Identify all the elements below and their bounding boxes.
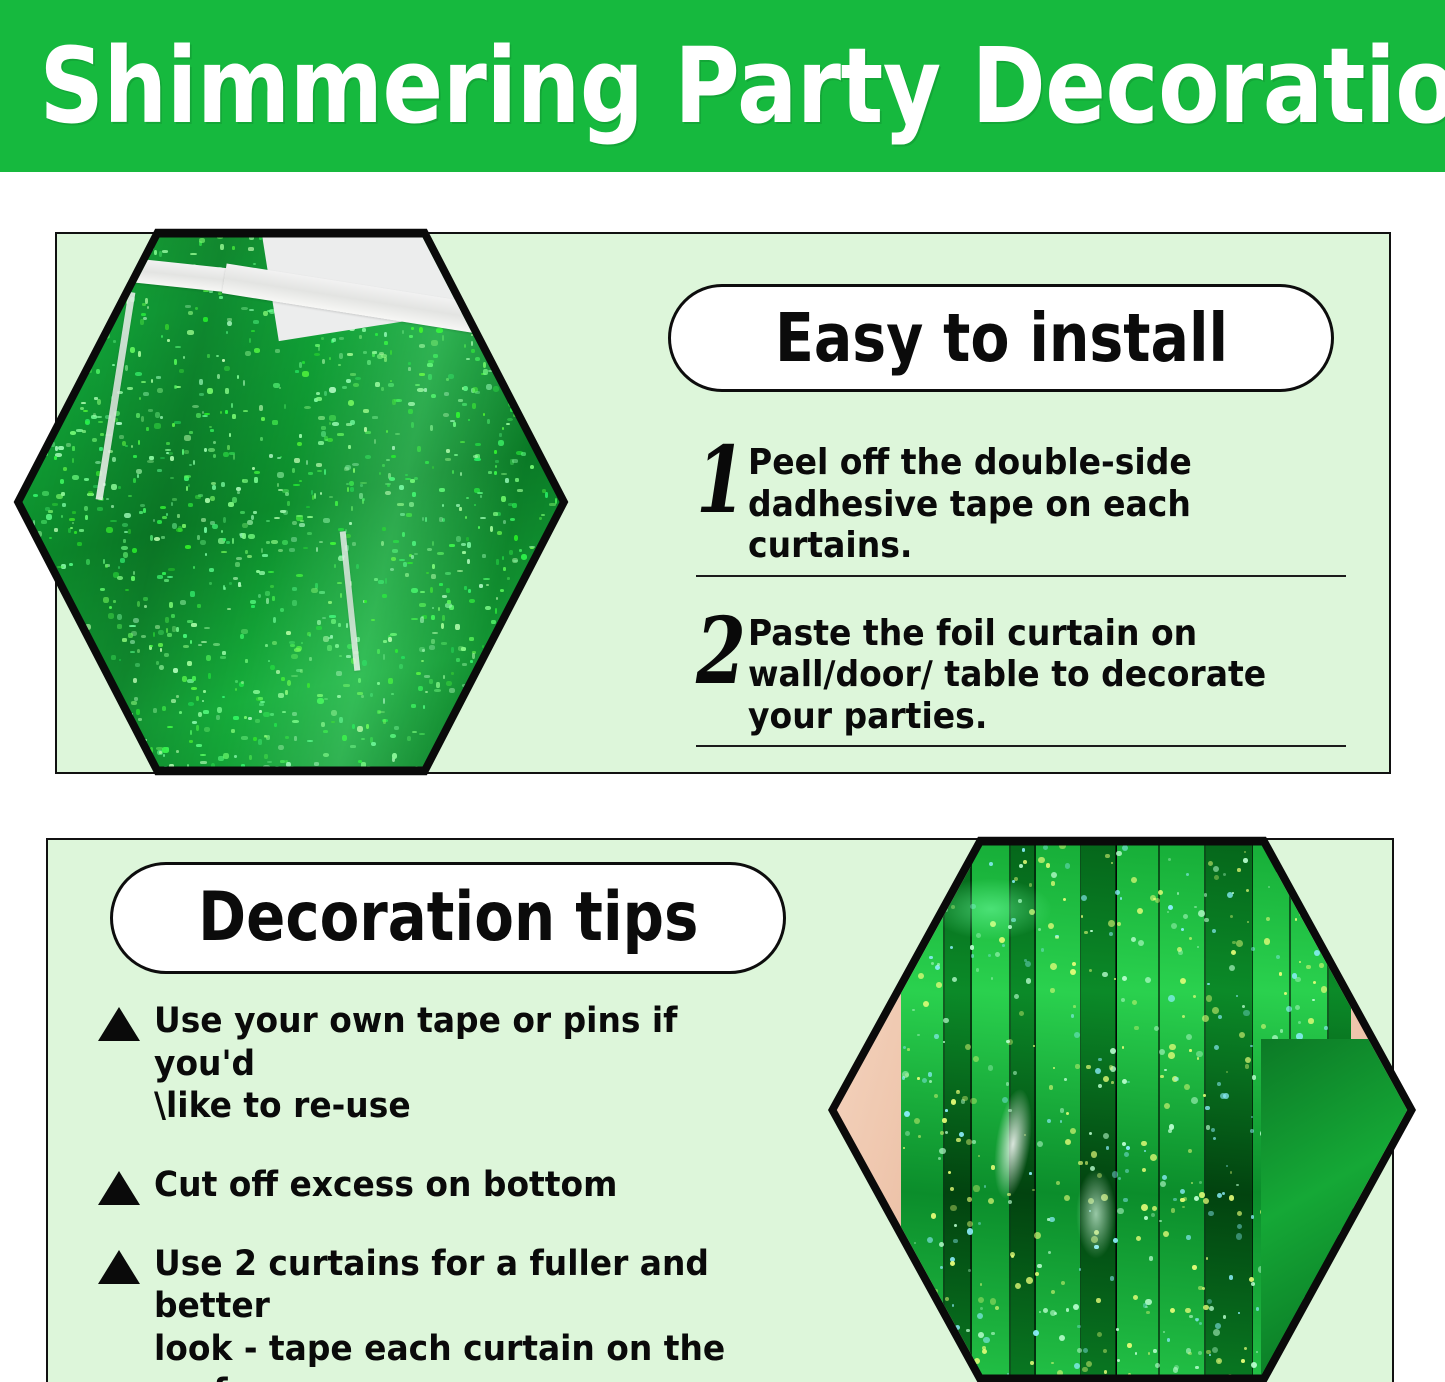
decoration-tips-label: Decoration tips xyxy=(198,884,698,952)
install-steps-list: 1 Peel off the double-side dadhesive tap… xyxy=(696,438,1346,747)
decoration-tip-2: Cut off excess on bottom xyxy=(98,1164,818,1207)
tips-image-hexagon xyxy=(822,830,1422,1382)
fringe-curtain-photo xyxy=(831,839,1413,1381)
triangle-icon xyxy=(98,1007,140,1041)
step-text: Paste the foil curtain on wall/door/ tab… xyxy=(748,609,1304,738)
page-title: Shimmering Party Decoration xyxy=(0,34,1445,138)
infographic-page: Shimmering Party Decoration Easy to inst… xyxy=(0,0,1445,1382)
decoration-tips-title-pill: Decoration tips xyxy=(110,862,786,974)
tip-text: Use 2 curtains for a fuller and better l… xyxy=(154,1243,778,1382)
triangle-icon xyxy=(98,1171,140,1205)
tip-text: Cut off excess on bottom xyxy=(154,1164,778,1207)
decoration-tip-1: Use your own tape or pins if you'd \like… xyxy=(98,1000,818,1128)
install-image-hexagon xyxy=(8,222,574,782)
install-step-2: 2 Paste the foil curtain on wall/door/ t… xyxy=(696,609,1346,748)
decoration-tips-list: Use your own tape or pins if you'd \like… xyxy=(98,1000,818,1382)
step-text: Peel off the double-side dadhesive tape … xyxy=(748,438,1304,567)
decoration-tip-3: Use 2 curtains for a fuller and better l… xyxy=(98,1243,818,1382)
foil-fold-right xyxy=(1261,1039,1413,1381)
glitter-foil-photo xyxy=(17,231,565,773)
header-banner: Shimmering Party Decoration xyxy=(0,0,1445,172)
step-number: 1 xyxy=(696,438,733,523)
step-number: 2 xyxy=(696,609,733,694)
tip-text: Use your own tape or pins if you'd \like… xyxy=(154,1000,778,1128)
install-step-1: 1 Peel off the double-side dadhesive tap… xyxy=(696,438,1346,577)
easy-to-install-label: Easy to install xyxy=(774,305,1227,372)
triangle-icon xyxy=(98,1250,140,1284)
easy-to-install-title-pill: Easy to install xyxy=(668,284,1334,392)
